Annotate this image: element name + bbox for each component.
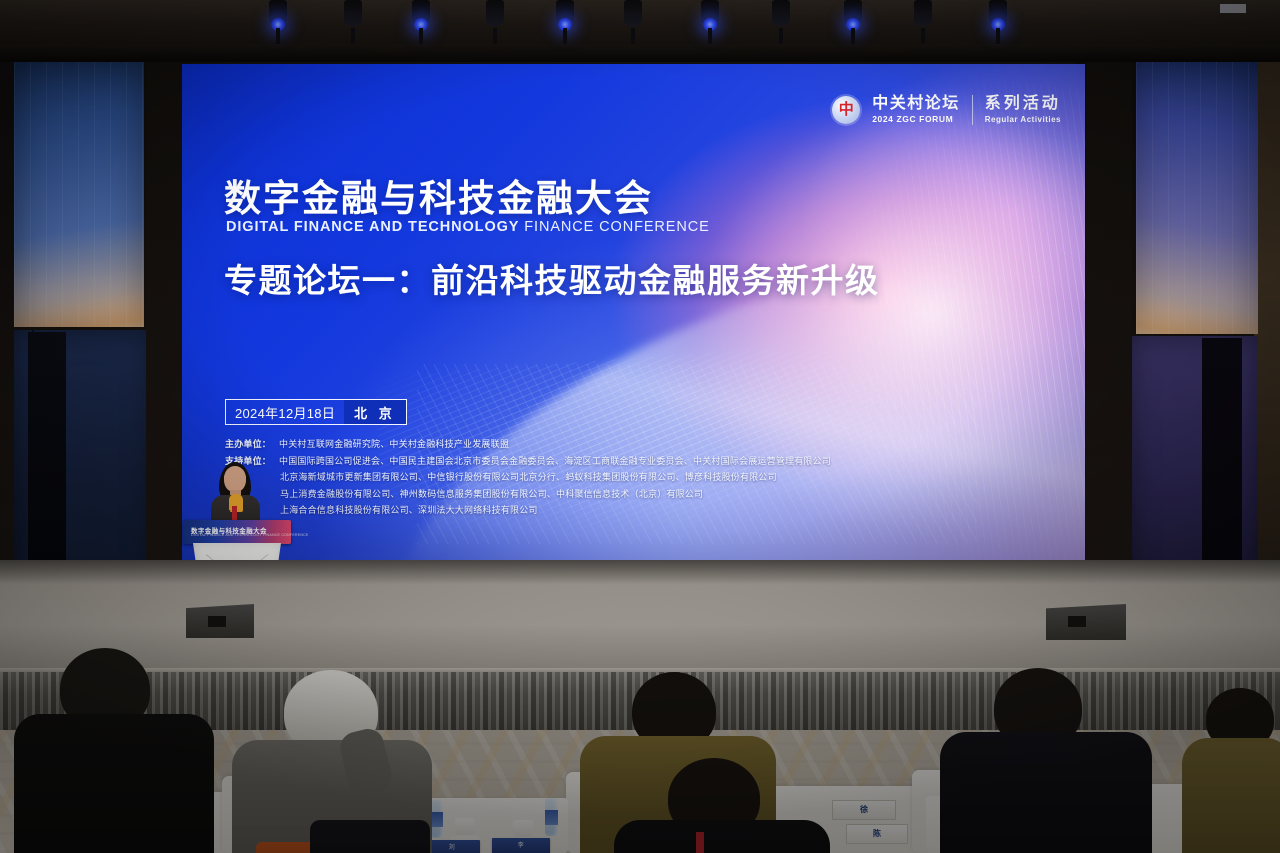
stage-light-icon xyxy=(910,0,936,40)
name-card: 陈 xyxy=(846,824,908,844)
stage-light-icon xyxy=(552,0,578,40)
name-card-text: 徐 xyxy=(833,801,895,819)
zgc-logo-cn: 中关村论坛 xyxy=(872,96,960,113)
person-body xyxy=(14,714,214,853)
teacup xyxy=(513,820,533,840)
organizer-line: 支持单位：中国国际跨国公司促进会、中国民主建国会北京市委员会金融委员会、海淀区工… xyxy=(225,453,831,470)
person-body xyxy=(940,732,1152,853)
person-body xyxy=(614,820,830,853)
name-card-text: 陈 xyxy=(847,825,907,843)
organizer-line: 上海合合信息科技股份有限公司、深圳法大大网络科技有限公司 xyxy=(225,502,831,519)
stage-light-icon xyxy=(840,0,866,40)
right-dark-recess xyxy=(1086,62,1132,622)
organizer-line: 北京海新域城市更新集团有限公司、中信银行股份有限公司北京分行、蚂蚁科技集团股份有… xyxy=(225,469,831,486)
teacup xyxy=(455,818,475,838)
zgc-logo-glyph: 中 xyxy=(839,102,854,117)
organizer-label: 主办单位： xyxy=(225,439,271,449)
name-card-text: 李 xyxy=(492,838,550,853)
audience-person xyxy=(958,668,1134,853)
audience-person xyxy=(24,648,204,853)
podium-banner: 数字金融与科技金融大会 DIGITAL FINANCE AND TECHNOLO… xyxy=(183,520,291,544)
zgc-logo-en: 2024 ZGC FORUM xyxy=(872,114,953,124)
organizer-text: 中国国际跨国公司促进会、中国民主建国会北京市委员会金融委员会、海淀区工商联金融专… xyxy=(279,456,831,466)
conference-title-cn: 数字金融与科技金融大会 xyxy=(224,168,653,222)
organizer-text: 中关村互联网金融研究院、中关村金融科技产业发展联盟 xyxy=(279,439,509,449)
conference-title-en-light: FINANCE CONFERENCE xyxy=(519,219,709,235)
stage-light-icon xyxy=(620,0,646,40)
series-activity-en: Regular Activities xyxy=(985,115,1061,124)
stage-light-icon xyxy=(340,0,366,40)
stage-light-icon xyxy=(768,0,794,40)
conference-title-en-bold: DIGITAL FINANCE AND TECHNOLOGY xyxy=(226,219,519,235)
person-jacket xyxy=(310,820,430,853)
forum-subtitle-cn: 专题论坛一：前沿科技驱动金融服务新升级 xyxy=(224,254,880,302)
right-wall-panel-upper xyxy=(1136,62,1258,334)
exit-sign-icon xyxy=(1220,4,1246,13)
series-activity-cn: 系列活动 xyxy=(985,96,1061,113)
stage-monitor-speaker xyxy=(186,604,254,638)
audience-person xyxy=(630,758,810,853)
logo-divider xyxy=(972,95,973,125)
organizer-text: 上海合合信息科技股份有限公司、深圳法大大网络科技有限公司 xyxy=(280,505,538,515)
person-body xyxy=(1182,738,1280,853)
water-bottle xyxy=(545,798,558,836)
audience-person xyxy=(1190,688,1280,853)
name-card: 刘 xyxy=(424,840,480,853)
stage-light-icon xyxy=(985,0,1011,40)
organizer-line: 主办单位：中关村互联网金融研究院、中关村金融科技产业发展联盟 xyxy=(225,436,831,453)
zgc-forum-logo: 中 中关村论坛 2024 ZGC FORUM 系列活动 Regular Acti… xyxy=(832,95,1061,125)
left-stage-door xyxy=(28,332,66,587)
stage-light-icon xyxy=(697,0,723,40)
stage-light-icon xyxy=(408,0,434,40)
event-date: 2024年12月18日 xyxy=(226,400,344,424)
lighting-truss xyxy=(0,44,1280,62)
stage-monitor-speaker xyxy=(1046,604,1126,640)
stage-light-icon xyxy=(265,0,291,40)
left-wall-panel-upper xyxy=(14,62,144,327)
audience-person xyxy=(238,670,428,853)
stage-back-shadow xyxy=(0,560,1280,584)
speaker-head xyxy=(224,466,246,492)
zgc-logo-mark-icon: 中 xyxy=(832,96,860,124)
stage-light-icon xyxy=(482,0,508,40)
date-location-badge: 2024年12月18日 北 京 xyxy=(225,399,407,425)
podium-banner-en: DIGITAL FINANCE AND TECHNOLOGY FINANCE C… xyxy=(191,533,309,537)
led-stage-screen: 中 中关村论坛 2024 ZGC FORUM 系列活动 Regular Acti… xyxy=(182,64,1085,564)
conference-title-en: DIGITAL FINANCE AND TECHNOLOGY FINANCE C… xyxy=(226,219,710,235)
name-card: 李 xyxy=(492,838,550,853)
zgc-logo-text: 中关村论坛 2024 ZGC FORUM xyxy=(872,96,960,125)
event-city: 北 京 xyxy=(344,400,406,424)
right-stage-door xyxy=(1202,338,1242,590)
organizer-list: 主办单位：中关村互联网金融研究院、中关村金融科技产业发展联盟 支持单位：中国国际… xyxy=(225,436,831,519)
person-lanyard xyxy=(696,832,704,853)
series-activity-text: 系列活动 Regular Activities xyxy=(985,96,1061,125)
conference-hall-photo: 中 中关村论坛 2024 ZGC FORUM 系列活动 Regular Acti… xyxy=(0,0,1280,853)
organizer-text: 马上消费金融股份有限公司、神州数码信息服务集团股份有限公司、中科聚信信息技术（北… xyxy=(280,489,703,499)
organizer-line: 马上消费金融股份有限公司、神州数码信息服务集团股份有限公司、中科聚信信息技术（北… xyxy=(225,486,831,503)
name-card: 徐 xyxy=(832,800,896,820)
organizer-text: 北京海新域城市更新集团有限公司、中信银行股份有限公司北京分行、蚂蚁科技集团股份有… xyxy=(280,472,777,482)
name-card-text: 刘 xyxy=(424,840,480,853)
